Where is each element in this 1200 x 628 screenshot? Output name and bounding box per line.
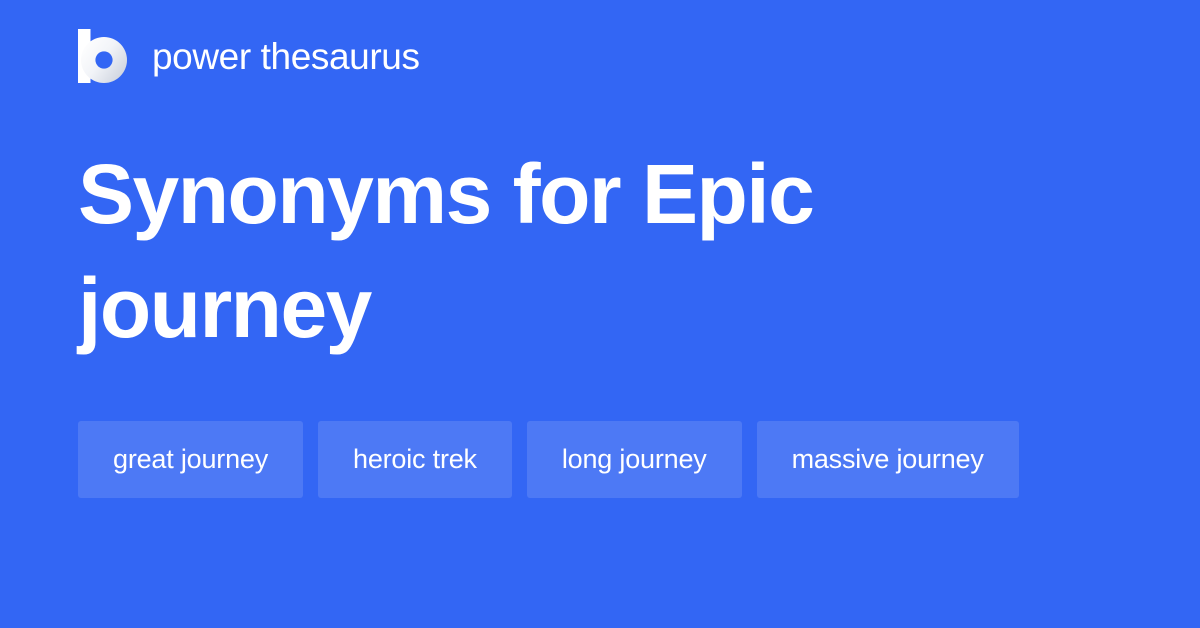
brand-lockup[interactable]: power thesaurus	[78, 26, 420, 86]
synonym-chip[interactable]: great journey	[78, 421, 303, 498]
synonym-chip[interactable]: long journey	[527, 421, 742, 498]
synonym-chip[interactable]: heroic trek	[318, 421, 512, 498]
page-title-line-1: Synonyms for Epic	[78, 147, 813, 241]
brand-name: power thesaurus	[152, 38, 420, 75]
page-title-line-2: journey	[78, 261, 371, 355]
page-title: Synonyms for Epic journey	[78, 137, 1088, 365]
synonym-chip[interactable]: massive journey	[757, 421, 1019, 498]
synonym-chip-list: great journeyheroic treklong journeymass…	[78, 421, 1128, 498]
power-thesaurus-b-logo-icon	[78, 29, 128, 83]
og-card: power thesaurus Synonyms for Epic journe…	[0, 0, 1200, 628]
